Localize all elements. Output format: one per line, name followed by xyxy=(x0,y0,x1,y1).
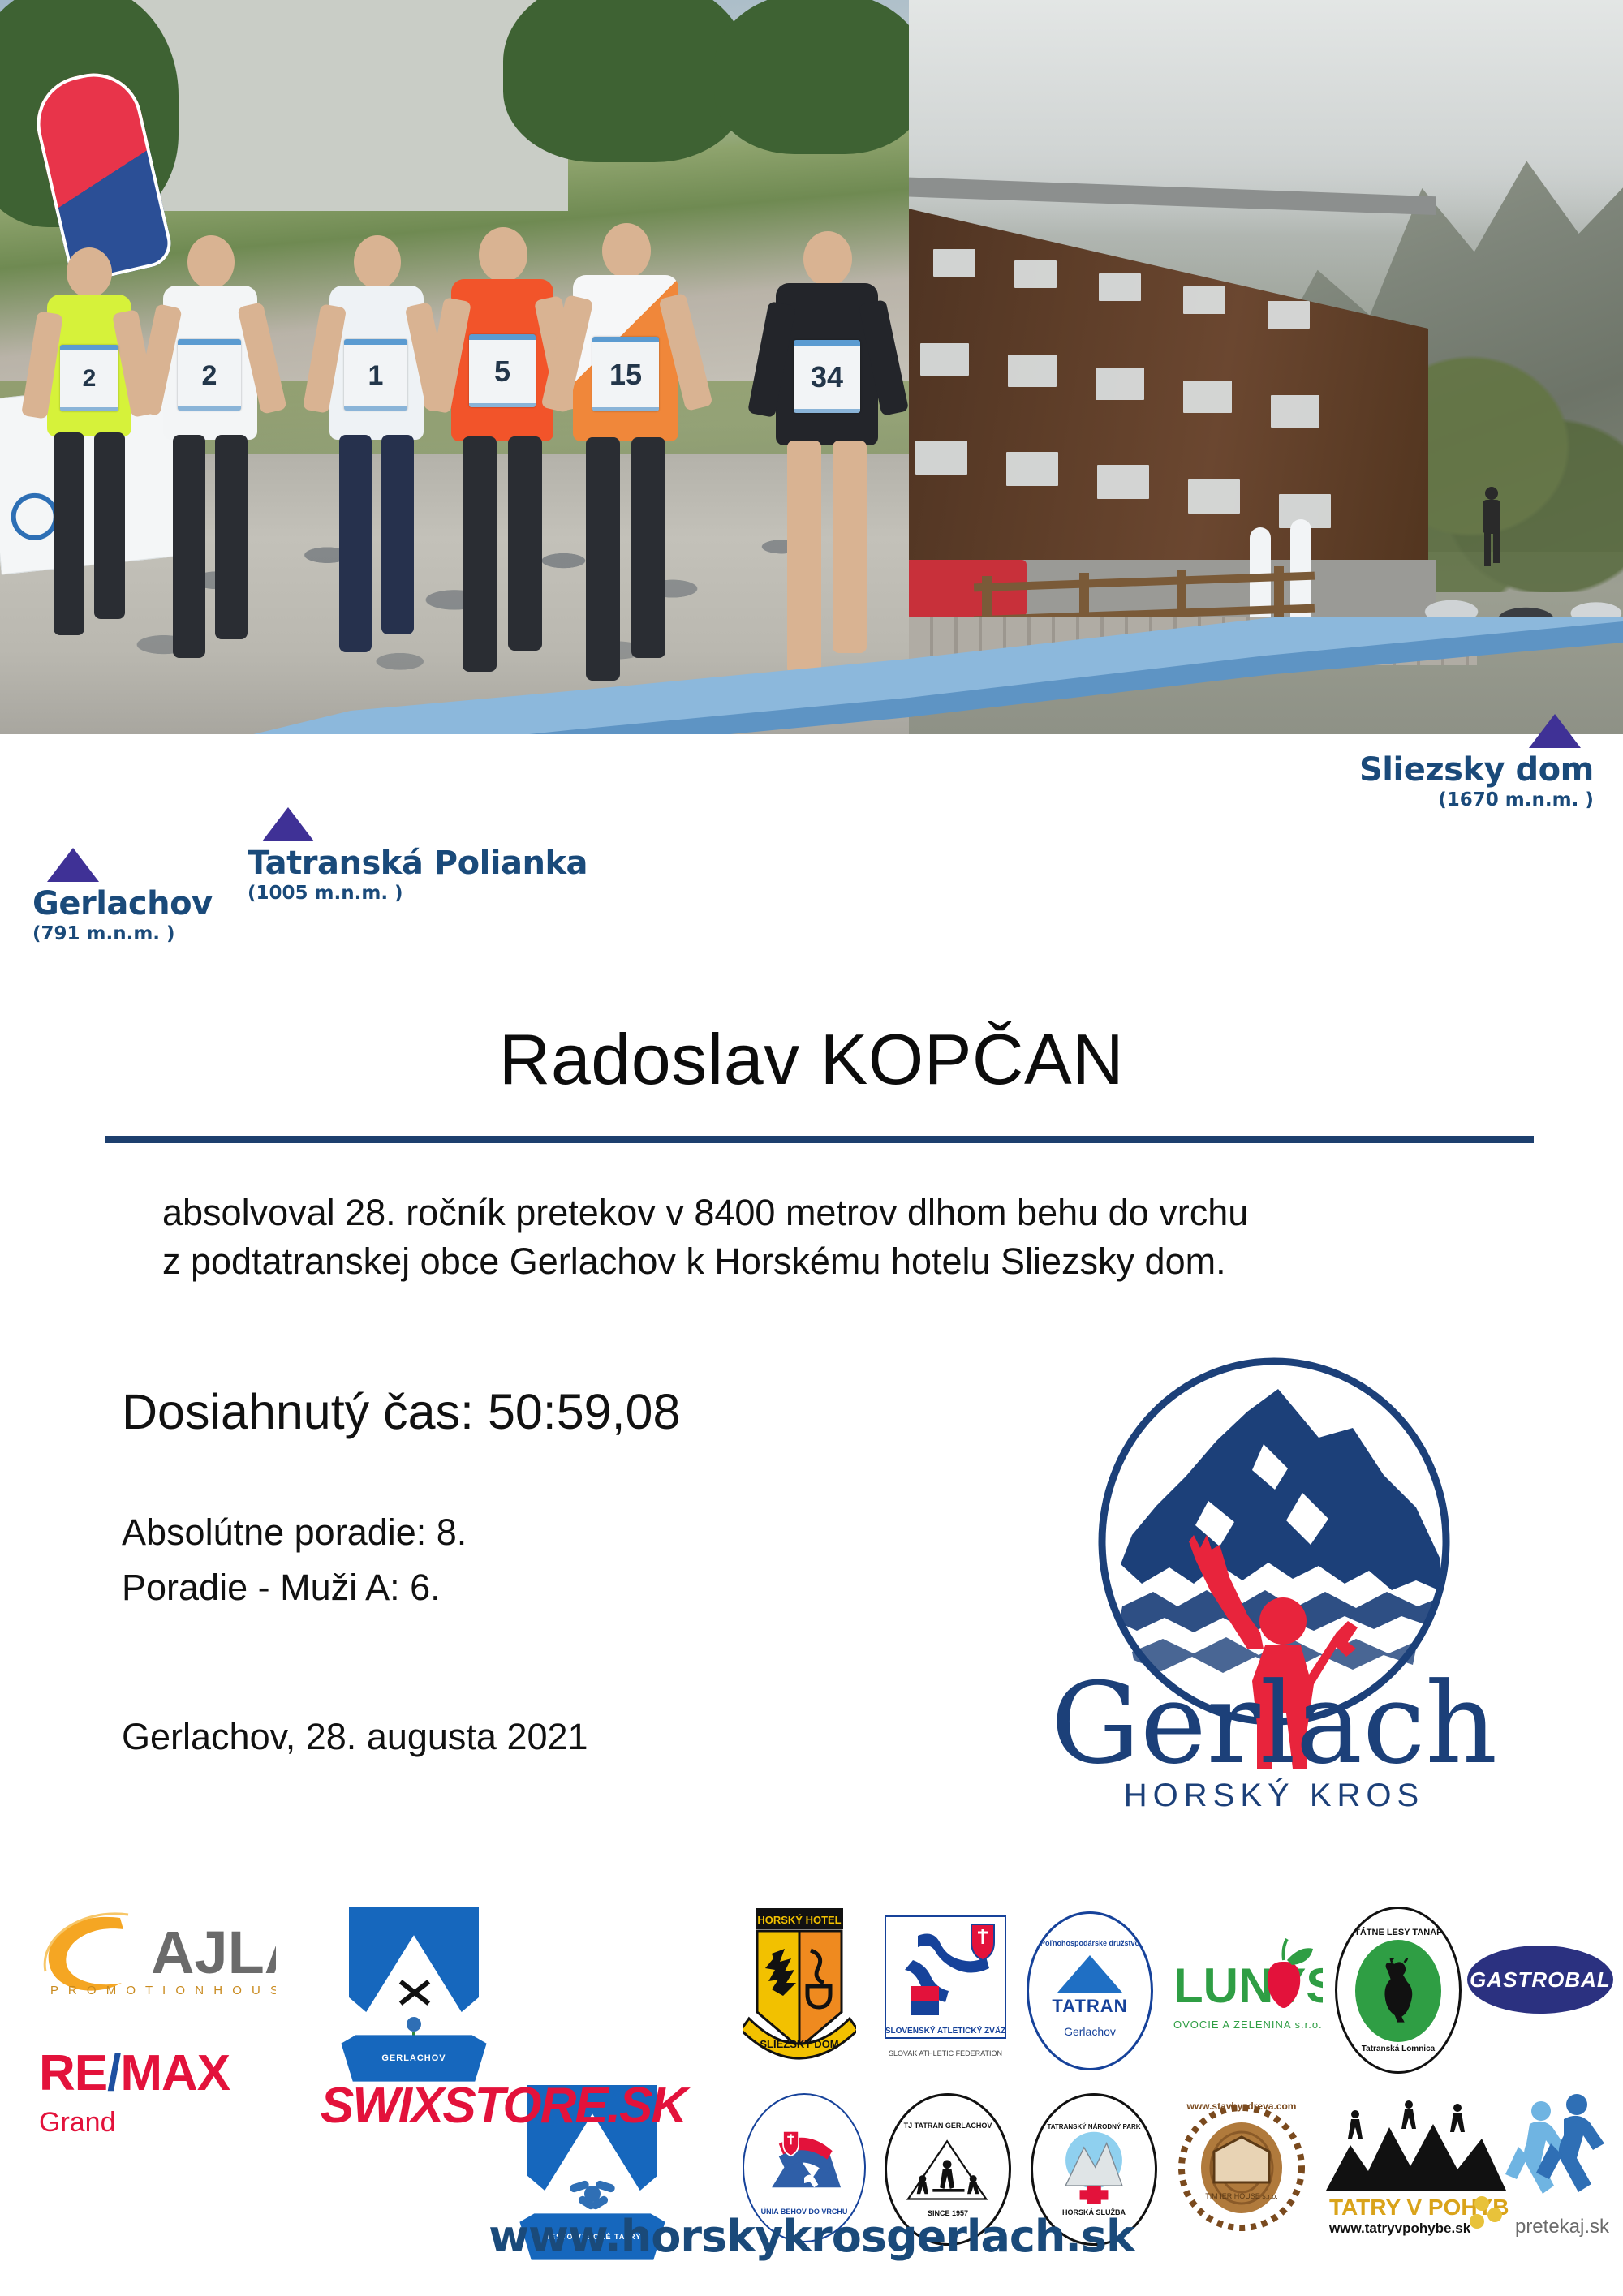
tj-tatran-skiers-icon xyxy=(901,2130,995,2209)
gerlach-horsky-kros-logo: Gerlach HORSKÝ KROS xyxy=(1035,1347,1513,1825)
runner-leg-right xyxy=(631,437,665,658)
saz-logo: SLOVENSKÝ ATLETICKÝ ZVÄZ SLOVAK ATHLETIC… xyxy=(880,1911,1010,2074)
runner-floral-15: 15 xyxy=(560,223,694,718)
saz-name-sk: SLOVENSKÝ ATLETICKÝ ZVÄZ xyxy=(885,2025,1005,2036)
logo-svg: Gerlach HORSKÝ KROS xyxy=(1035,1347,1513,1825)
tanap-location: Tatranská Lomnica xyxy=(1362,2044,1435,2053)
runner-bib: 5 xyxy=(469,334,536,407)
tj-tatran-arch-label: TJ TATRAN GERLACHOV xyxy=(904,2122,992,2130)
runner-leg-right xyxy=(508,436,542,651)
unia-behov-icon xyxy=(762,2120,846,2204)
hotel-facade xyxy=(909,183,1428,588)
runner-yellow: 2 xyxy=(32,247,146,669)
runner-head xyxy=(602,223,651,278)
gastrobal-pill: GASTROBAL xyxy=(1467,1946,1613,2014)
sponsor-logos: AJLA P R O M O T I O N H O U S E RE/MAX … xyxy=(0,1890,1623,2191)
waypoint-altitude: (1670 m.n.m. ) xyxy=(1359,789,1594,810)
photo-banner: 2 2 1 xyxy=(0,0,1623,734)
horska-arch-label: TATRANSKÝ NÁRODNÝ PARK xyxy=(1047,2123,1140,2130)
runner-leg-right xyxy=(381,435,414,634)
sliezsky-dom-crest: HORSKÝ HOTEL SLIEZSKY DOM xyxy=(743,1905,856,2079)
runner-leg-right xyxy=(833,441,867,653)
bib-number: 2 xyxy=(83,365,97,393)
title-divider-rule xyxy=(105,1136,1534,1143)
hotel-window xyxy=(1014,260,1057,288)
bib-number: 2 xyxy=(202,360,217,392)
hotel-window xyxy=(920,343,969,376)
waypoint-name: Sliezsky dom xyxy=(1359,753,1594,787)
sponsor-gerlachov-crest: GERLACHOV xyxy=(349,1907,479,2085)
hotel-window xyxy=(1099,273,1141,301)
waypoint-tatranska-polianka: Tatranská Polianka (1005 m.n.m. ) xyxy=(248,807,588,904)
crest-hammers-icon xyxy=(395,1985,437,2021)
sponsor-ajla: AJLA P R O M O T I O N H O U S E xyxy=(32,1907,276,2004)
hotel-window xyxy=(1188,479,1240,514)
hotel-window xyxy=(1183,286,1225,314)
waypoint-altitude: (791 m.n.m. ) xyxy=(32,923,213,944)
bib-number: 34 xyxy=(811,360,843,394)
finish-time: Dosiahnutý čas: 50:59,08 xyxy=(122,1383,680,1440)
ajla-logo: AJLA P R O M O T I O N H O U S E xyxy=(32,1907,276,2004)
hotel-window xyxy=(933,249,975,277)
tatran-peak-icon xyxy=(1057,1955,1122,1993)
race-start-photo: 2 2 1 xyxy=(0,0,909,734)
rail-bar xyxy=(974,572,1315,592)
swixstore-wordmark: SWIXSTORE.SK xyxy=(321,2077,686,2135)
tatran-location: Gerlachov xyxy=(1064,2025,1116,2038)
crest-header-label: HORSKÝ HOTEL xyxy=(757,1914,841,1926)
website-url[interactable]: www.horskykrosgerlach.sk xyxy=(0,2211,1623,2262)
athlete-name: Radoslav KOPČAN xyxy=(0,1018,1623,1101)
runner-bib: 2 xyxy=(178,339,241,411)
runner-leg-right xyxy=(94,432,125,619)
hotel-window xyxy=(1006,452,1058,486)
remax-wordmark: RE/MAX xyxy=(39,2049,230,2099)
hotel-window xyxy=(1097,465,1149,499)
sponsor-tatran-gerlachov: Poľnohospodárske družstvo TATRAN Gerlach… xyxy=(1027,1911,1153,2070)
runner-bib: 34 xyxy=(794,340,860,413)
absolute-rank: Absolútne poradie: 8. xyxy=(122,1505,467,1560)
category-rank: Poradie - Muži A: 6. xyxy=(122,1560,467,1615)
runner-leg-left xyxy=(586,437,620,681)
runner-bib: 2 xyxy=(60,345,118,411)
sponsor-slovak-athletic-federation: SLOVENSKÝ ATLETICKÝ ZVÄZ SLOVAK ATHLETIC… xyxy=(880,1911,1010,2074)
runner-leg-left xyxy=(54,432,84,635)
lunys-logo: LUNYS OVOCIE A ZELENINA s.r.o. xyxy=(1169,1928,1323,2049)
runner-head xyxy=(67,247,112,298)
hotel-window xyxy=(1183,381,1232,413)
trail-runner xyxy=(1477,487,1505,568)
runner-head xyxy=(803,231,852,286)
logo-tagline: HORSKÝ KROS xyxy=(1124,1777,1424,1813)
runner-white-2: 2 xyxy=(150,235,272,698)
runner-head xyxy=(479,227,527,282)
tatran-arch-label: Poľnohospodárske družstvo xyxy=(1040,1939,1139,1947)
runner-leg-right xyxy=(215,435,248,639)
stone-retaining-wall xyxy=(909,617,1477,665)
sponsor-sliezsky-dom: HORSKÝ HOTEL SLIEZSKY DOM xyxy=(743,1905,856,2079)
runner-orange-5: 5 xyxy=(438,227,568,706)
crest-ribbon-label: SLIEZSKY DOM xyxy=(760,2038,838,2050)
saz-blue-bar xyxy=(911,2001,939,2015)
description-line-1: absolvoval 28. ročník pretekov v 8400 me… xyxy=(162,1189,1509,1237)
bib-number: 1 xyxy=(368,360,384,392)
horska-sluzba-icon xyxy=(1050,2130,1138,2208)
lunys-wordmark: LUNYS xyxy=(1173,1958,1323,2013)
ranking-block: Absolútne poradie: 8. Poradie - Muži A: … xyxy=(122,1505,467,1616)
sponsor-remax: RE/MAX Grand xyxy=(39,2036,282,2150)
hotel-window xyxy=(1271,395,1319,428)
description-line-2: z podtatranskej obce Gerlachov k Horském… xyxy=(162,1237,1509,1286)
runner-leg-left xyxy=(787,441,821,674)
stavbyzdreva-url-top: www.stavbyzdreva.com xyxy=(1186,2100,1297,2112)
mountain-marker-icon xyxy=(47,848,99,882)
runner-white-1: 1 xyxy=(316,235,438,690)
logo-wordmark: Gerlach xyxy=(1051,1658,1497,1789)
ajla-subtitle: P R O M O T I O N H O U S E xyxy=(50,1984,276,1997)
ajla-swoosh-icon xyxy=(49,1917,123,1991)
saz-red-bar xyxy=(911,1986,939,2001)
runner-head xyxy=(187,235,235,289)
hotel-window xyxy=(1268,301,1310,329)
runner-leg-left xyxy=(339,435,372,652)
saz-name-en: SLOVAK ATHLETIC FEDERATION xyxy=(889,2049,1002,2057)
lunys-subtitle: OVOCIE A ZELENINA s.r.o. xyxy=(1173,2019,1323,2031)
runner-leg-left xyxy=(173,435,205,658)
hiker-figures-icon xyxy=(1348,2100,1465,2139)
crest-edelweiss-icon xyxy=(570,2171,615,2216)
runner-light-icon xyxy=(1505,2101,1565,2194)
runner-black-34: 34 xyxy=(763,231,893,710)
bib-number: 5 xyxy=(494,355,510,389)
bib-number: 15 xyxy=(609,358,642,392)
sponsor-statne-lesy-tanapu: ŠTÁTNE LESY TANAPu Tatranská Lomnica xyxy=(1335,1907,1462,2074)
waypoint-sliezsky-dom: Sliezsky dom (1670 m.n.m. ) xyxy=(1359,714,1594,810)
sliezsky-dom-photo xyxy=(909,0,1623,734)
tatran-wordmark: TATRAN xyxy=(1052,1996,1127,2017)
hotel-window xyxy=(915,441,967,475)
hotel-window xyxy=(1008,355,1057,387)
mountain-marker-icon xyxy=(1529,714,1581,748)
apple-stem-icon xyxy=(1284,1939,1288,1960)
mountain-marker-icon xyxy=(262,807,314,841)
hotel-window xyxy=(1096,368,1144,400)
runner-head xyxy=(354,235,401,289)
waypoint-name: Gerlachov xyxy=(32,887,213,921)
sponsor-gastrobal: GASTROBAL xyxy=(1467,1941,1613,2019)
remax-subtitle: Grand xyxy=(39,2107,116,2139)
sponsor-lunys: LUNYS OVOCIE A ZELENINA s.r.o. xyxy=(1169,1928,1323,2049)
gastrobal-wordmark: GASTROBAL xyxy=(1470,1967,1611,1993)
tanap-green-disc xyxy=(1355,1940,1441,2042)
runner-bib: 1 xyxy=(344,339,407,411)
runner-leg-left xyxy=(463,436,497,672)
waypoint-gerlachov: Gerlachov (791 m.n.m. ) xyxy=(32,848,213,944)
runner-bib: 15 xyxy=(592,337,659,411)
certificate-description: absolvoval 28. ročník pretekov v 8400 me… xyxy=(162,1189,1509,1286)
tanap-arch-label: ŠTÁTNE LESY TANAPu xyxy=(1349,1928,1448,1937)
chamois-icon xyxy=(1374,1958,1423,2023)
waypoint-altitude: (1005 m.n.m. ) xyxy=(248,883,588,904)
ajla-wordmark: AJLA xyxy=(151,1919,276,1986)
place-and-date: Gerlachov, 28. augusta 2021 xyxy=(122,1716,588,1758)
stavbyzdreva-company: TIM IER HOUSE s.r.o. xyxy=(1205,2192,1278,2200)
sponsor-swixstore: SWIXSTORE.SK xyxy=(325,2061,682,2150)
waypoint-name: Tatranská Polianka xyxy=(248,846,588,880)
